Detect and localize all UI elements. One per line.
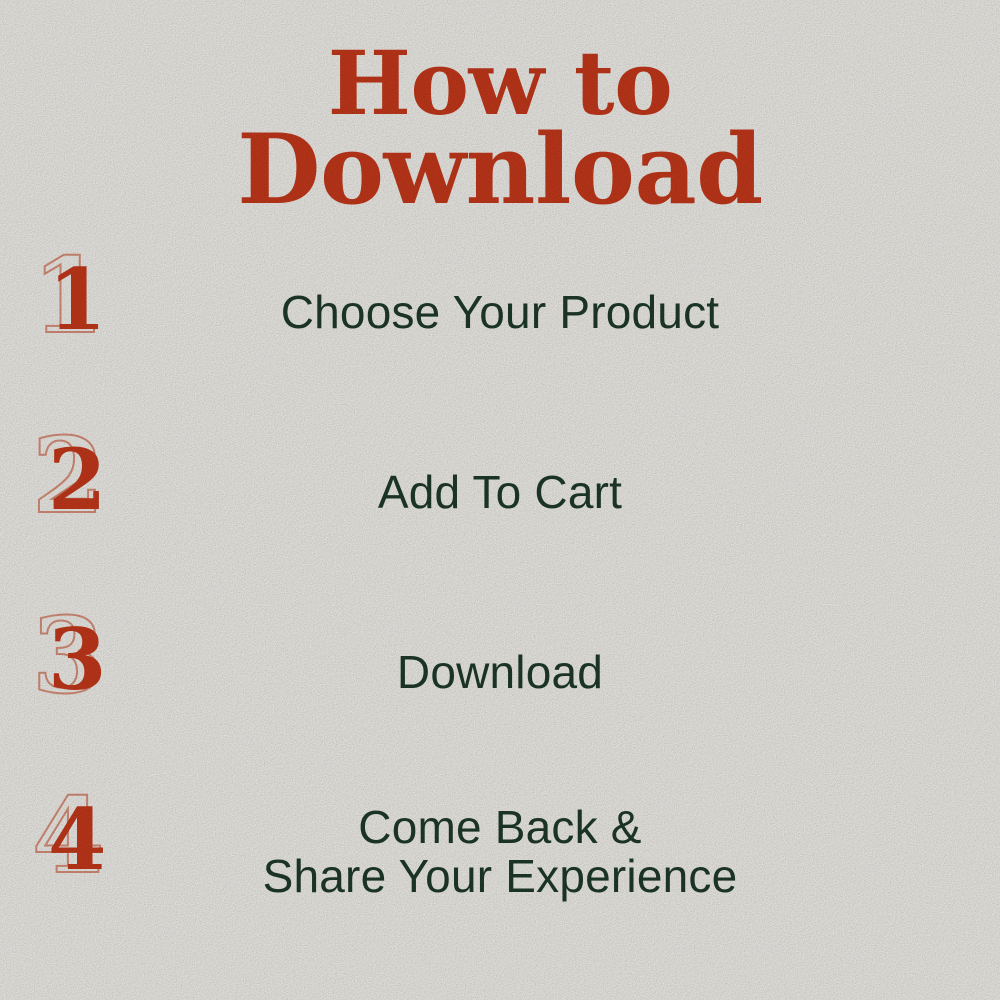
page-title: How to Download bbox=[0, 44, 1000, 214]
step-number-badge-3: 3 3 bbox=[0, 582, 175, 762]
step-label-1: Choose Your Product bbox=[175, 222, 825, 402]
step-label-3-line-1: Download bbox=[397, 648, 603, 697]
step-label-1-line-1: Choose Your Product bbox=[281, 288, 720, 337]
step-label-4-line-1: Come Back & bbox=[358, 803, 641, 852]
step-row-2: 2 2 Add To Cart bbox=[0, 402, 1000, 582]
step-label-2-line-1: Add To Cart bbox=[378, 468, 622, 517]
step-number-solid-2: 2 bbox=[48, 438, 106, 522]
steps-list: 1 1 Choose Your Product 2 2 Add To Cart … bbox=[0, 222, 1000, 952]
step-label-4: Come Back & Share Your Experience bbox=[175, 762, 825, 942]
step-label-3: Download bbox=[175, 582, 825, 762]
step-number-badge-4: 4 4 bbox=[0, 762, 175, 942]
step-row-1: 1 1 Choose Your Product bbox=[0, 222, 1000, 402]
step-label-4-line-2: Share Your Experience bbox=[263, 852, 738, 901]
page-title-line-2: Download bbox=[0, 127, 1000, 213]
page-title-line-1: How to bbox=[0, 44, 1000, 123]
step-row-3: 3 3 Download bbox=[0, 582, 1000, 762]
how-to-download-poster: How to Download 1 1 Choose Your Product … bbox=[0, 0, 1000, 1000]
step-row-4: 4 4 Come Back & Share Your Experience bbox=[0, 762, 1000, 952]
step-number-badge-2: 2 2 bbox=[0, 402, 175, 582]
step-number-solid-3: 3 bbox=[48, 618, 106, 702]
step-number-badge-1: 1 1 bbox=[0, 222, 175, 402]
step-number-solid-4: 4 bbox=[48, 798, 106, 882]
step-number-solid-1: 1 bbox=[48, 258, 106, 342]
step-label-2: Add To Cart bbox=[175, 402, 825, 582]
